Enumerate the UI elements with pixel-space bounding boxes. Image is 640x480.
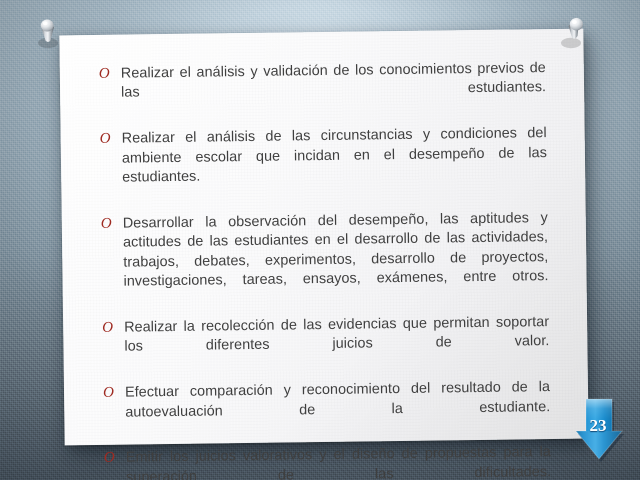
list-item: O Desarrollar la observación del desempe…: [100, 209, 549, 312]
bullet-marker-icon: O: [98, 65, 121, 85]
list-item-text: Realizar el análisis y validación de los…: [121, 59, 547, 123]
page-number-badge: 23: [574, 396, 640, 468]
list-item: O Realizar el análisis y validación de l…: [98, 59, 547, 123]
list-item-text: Emitir los juicios valorativos y el dise…: [126, 443, 552, 480]
paper-sheet: O Realizar el análisis y validación de l…: [59, 29, 588, 446]
bullet-marker-icon: O: [103, 449, 126, 469]
list-item: O Realizar la recolección de las evidenc…: [101, 313, 550, 377]
list-item-text: Efectuar comparación y reconocimiento de…: [125, 378, 551, 442]
bullet-marker-icon: O: [100, 214, 123, 234]
list-item-text: Realizar el análisis de las circunstanci…: [122, 124, 548, 207]
list-item-text: Realizar la recolección de las evidencia…: [124, 313, 550, 377]
list-item: O Emitir los juicios valorativos y el di…: [103, 443, 552, 480]
list-item: O Realizar el análisis de las circunstan…: [99, 124, 548, 207]
bullet-marker-icon: O: [99, 130, 122, 150]
list-item: O Efectuar comparación y reconocimiento …: [102, 378, 551, 442]
bullet-list: O Realizar el análisis y validación de l…: [98, 59, 552, 480]
slide-canvas: O Realizar el análisis y validación de l…: [0, 0, 640, 480]
bullet-marker-icon: O: [101, 318, 124, 338]
list-item-text: Desarrollar la observación del desempeño…: [123, 209, 549, 312]
bullet-marker-icon: O: [102, 384, 125, 404]
